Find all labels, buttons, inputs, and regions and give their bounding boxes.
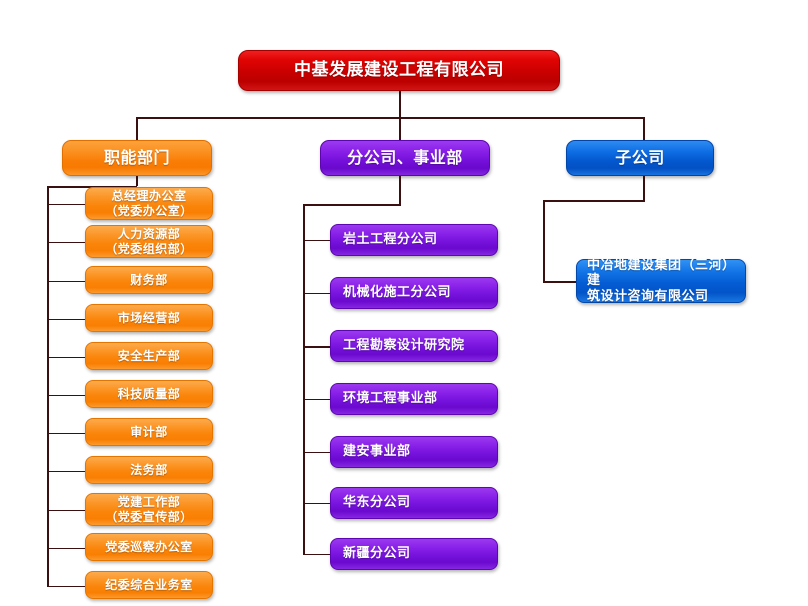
branch-unit-label: 新疆分公司 <box>343 546 411 561</box>
root-node-label: 中基发展建设工程有限公司 <box>294 60 504 80</box>
org-chart: 中基发展建设工程有限公司 职能部门 分公司、事业部 子公司 总经理办公室 （党委… <box>0 0 808 606</box>
branch-unit-node[interactable]: 新疆分公司 <box>330 538 498 570</box>
branch-unit-node[interactable]: 岩土工程分公司 <box>330 224 498 256</box>
functional-department-node[interactable]: 人力资源部 （党委组织部） <box>85 225 213 258</box>
functional-department-label-line1: 财务部 <box>130 273 168 287</box>
category-header-subsidiary-label: 子公司 <box>615 149 665 168</box>
connector-functional-drop <box>136 176 138 186</box>
functional-department-label-line2: （党委宣传部） <box>105 510 193 524</box>
functional-department-label-line1: 安全生产部 <box>118 349 181 363</box>
functional-department-node[interactable]: 审计部 <box>85 418 213 446</box>
connector-branch-stub <box>303 240 331 241</box>
functional-department-node[interactable]: 党委巡察办公室 <box>85 533 213 561</box>
functional-department-node[interactable]: 财务部 <box>85 266 213 294</box>
functional-department-label-line1: 科技质量部 <box>118 387 181 401</box>
functional-department-label-line1: 党委巡察办公室 <box>105 540 193 554</box>
functional-department-node[interactable]: 纪委综合业务室 <box>85 571 213 599</box>
connector-functional-stub <box>47 319 85 320</box>
connector-functional-stub <box>47 433 85 434</box>
functional-department-node[interactable]: 市场经营部 <box>85 304 213 332</box>
connector-functional-spine <box>47 186 49 587</box>
category-header-functional[interactable]: 职能部门 <box>62 140 212 176</box>
connector-branch-stub <box>303 293 331 294</box>
connector-to-functional <box>136 117 138 140</box>
connector-branch-stub <box>303 346 331 348</box>
functional-department-label-line1: 市场经营部 <box>118 311 181 325</box>
branch-unit-node[interactable]: 环境工程事业部 <box>330 383 498 415</box>
functional-department-node[interactable]: 总经理办公室 （党委办公室） <box>85 187 213 220</box>
functional-department-label-line2: （党委办公室） <box>105 204 193 218</box>
branch-unit-node[interactable]: 华东分公司 <box>330 487 498 519</box>
functional-department-label-line1: 党建工作部 <box>105 495 193 509</box>
connector-subsidiary-stub <box>543 281 577 283</box>
connector-to-subsidiary <box>643 117 645 140</box>
root-node[interactable]: 中基发展建设工程有限公司 <box>238 50 560 91</box>
connector-functional-stub <box>47 242 85 243</box>
connector-subsidiary-drop <box>643 176 645 201</box>
subsidiary-label-line2: 筑设计咨询有限公司 <box>587 289 745 304</box>
connector-functional-stub <box>47 586 85 587</box>
branch-unit-label: 机械化施工分公司 <box>343 285 451 300</box>
functional-department-node[interactable]: 法务部 <box>85 456 213 484</box>
category-header-subsidiary[interactable]: 子公司 <box>566 140 714 176</box>
functional-department-label-line1: 总经理办公室 <box>105 189 193 203</box>
connector-branch-drop <box>399 176 401 204</box>
connector-branch-stub <box>303 554 331 555</box>
connector-functional-stub <box>47 510 85 511</box>
functional-department-node[interactable]: 安全生产部 <box>85 342 213 370</box>
connector-branch-stub <box>303 503 331 504</box>
connector-functional-stub <box>47 204 85 205</box>
connector-branch-stub <box>303 452 331 453</box>
branch-unit-label: 环境工程事业部 <box>343 391 438 406</box>
connector-branch-elbow <box>303 204 401 206</box>
functional-department-label-line2: （党委组织部） <box>105 242 193 256</box>
functional-department-label-line1: 审计部 <box>130 425 168 439</box>
branch-unit-node[interactable]: 建安事业部 <box>330 436 498 468</box>
category-header-branch[interactable]: 分公司、事业部 <box>320 140 490 176</box>
connector-functional-stub <box>47 357 85 358</box>
connector-functional-stub <box>47 281 85 282</box>
connector-subsidiary-elbow-top <box>543 200 645 202</box>
connector-root-stem <box>399 91 401 118</box>
functional-department-node[interactable]: 科技质量部 <box>85 380 213 408</box>
connector-functional-stub <box>47 395 85 396</box>
functional-department-label-line1: 纪委综合业务室 <box>105 578 193 592</box>
connector-functional-stub <box>47 548 85 549</box>
connector-category-bus <box>136 117 645 119</box>
branch-unit-node[interactable]: 工程勘察设计研究院 <box>330 330 498 362</box>
branch-unit-label: 岩土工程分公司 <box>343 232 438 247</box>
connector-branch-stub <box>303 399 331 400</box>
branch-unit-label: 建安事业部 <box>343 444 411 459</box>
functional-department-label-line1: 法务部 <box>130 463 168 477</box>
category-header-functional-label: 职能部门 <box>104 149 170 168</box>
connector-subsidiary-spine <box>543 200 545 282</box>
branch-unit-label: 工程勘察设计研究院 <box>343 338 465 353</box>
branch-unit-label: 华东分公司 <box>343 495 411 510</box>
functional-department-label-line1: 人力资源部 <box>105 227 193 241</box>
subsidiary-node[interactable]: 中冶地建设集团（三河）建 筑设计咨询有限公司 <box>576 259 746 303</box>
connector-to-branch <box>399 117 401 140</box>
branch-unit-node[interactable]: 机械化施工分公司 <box>330 277 498 309</box>
functional-department-node[interactable]: 党建工作部 （党委宣传部） <box>85 493 213 526</box>
connector-functional-stub <box>47 471 85 472</box>
subsidiary-label-line1: 中冶地建设集团（三河）建 <box>587 258 745 289</box>
category-header-branch-label: 分公司、事业部 <box>347 149 463 168</box>
